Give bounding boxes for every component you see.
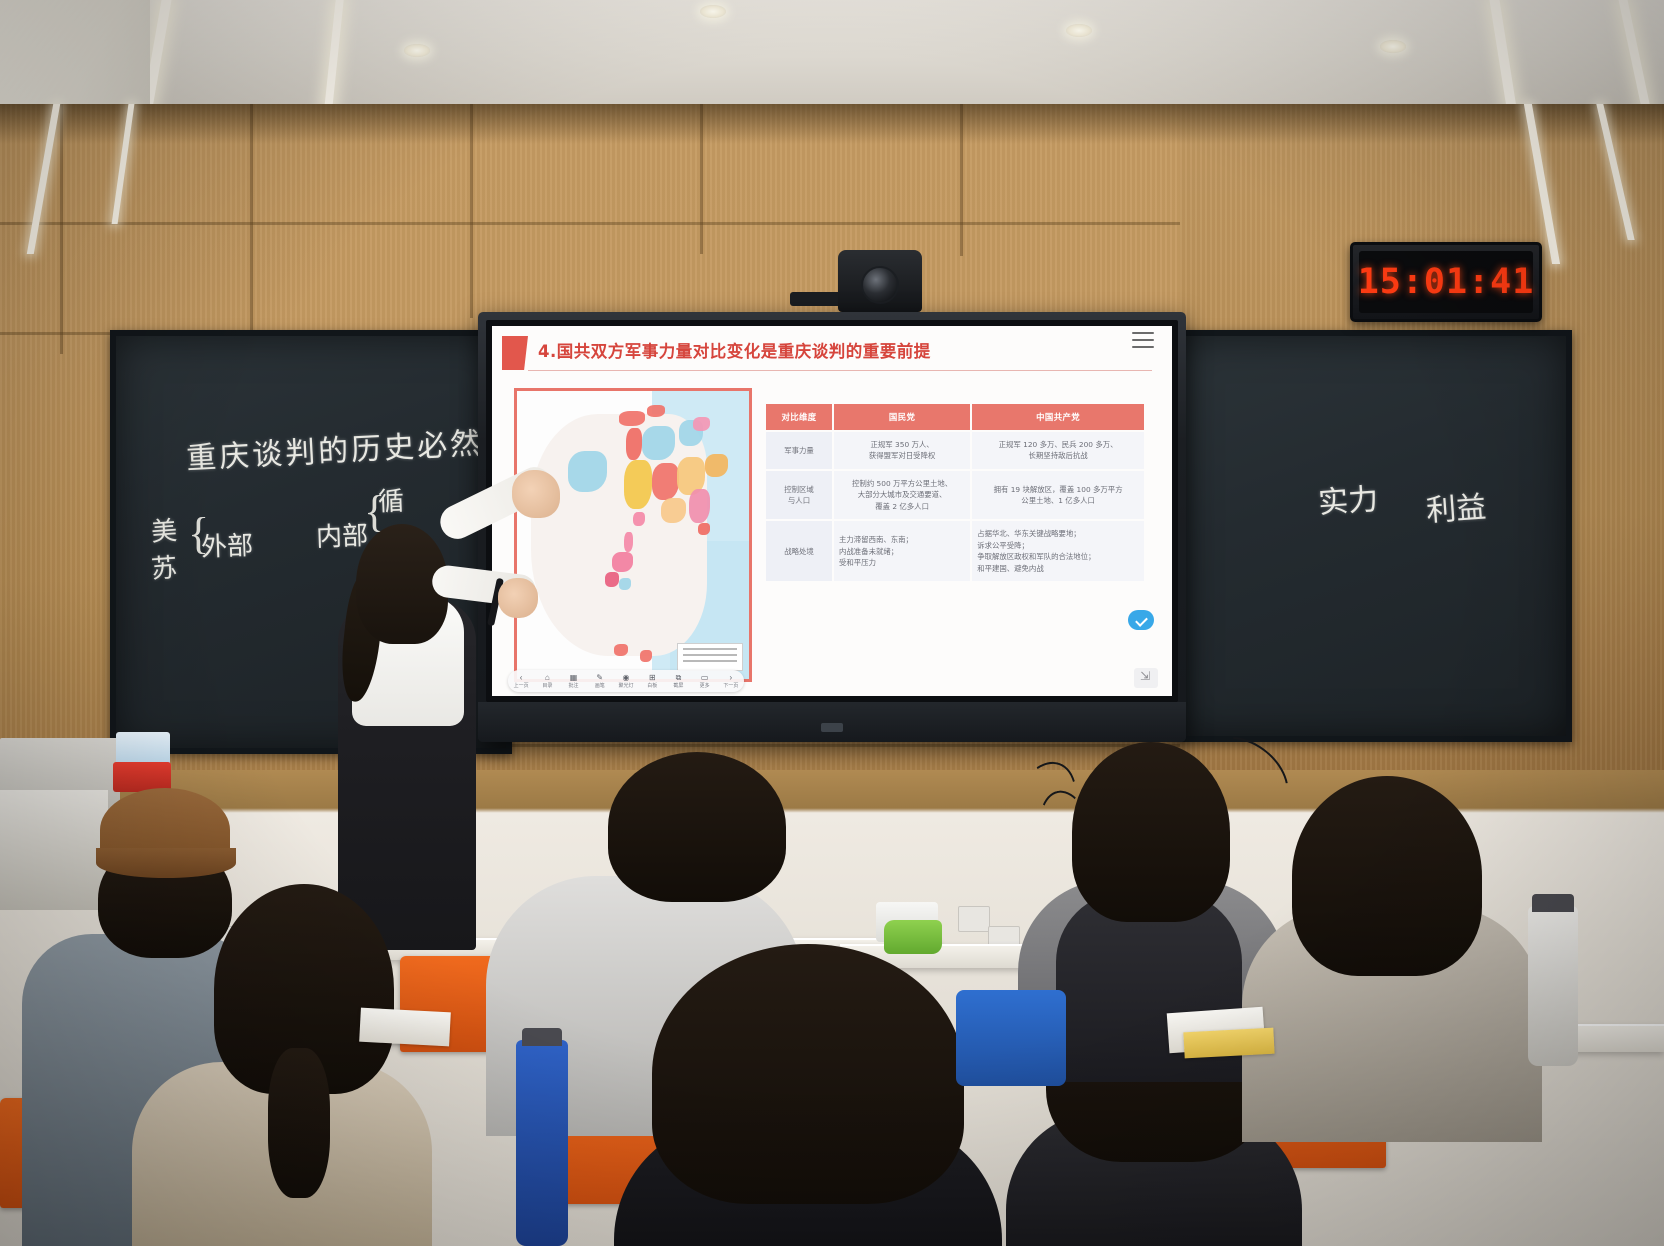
panel-chin xyxy=(478,702,1186,742)
spotlight-icon: ◉ xyxy=(613,673,639,683)
cell-dimension: 战略处境 xyxy=(765,520,833,582)
cell-kmt: 正规军 350 万人、 获得盟军对日受降权 xyxy=(833,431,971,470)
table-row: 战略处境 主力滞留西南、东南； 内战准备未就绪； 受和平压力 占据华北、华东关键… xyxy=(765,520,1145,582)
front-cabinet xyxy=(0,790,108,910)
table-header-row: 对比维度 国民党 中国共产党 xyxy=(765,403,1145,431)
toolbar-annotate[interactable]: ▦批注 xyxy=(560,673,586,689)
toolbar-more[interactable]: ▭更多 xyxy=(692,673,718,689)
pointing-hand xyxy=(512,470,560,518)
cell-kmt: 控制约 500 万平方公里土地、 大部分大城市及交通要道、 覆盖 2 亿多人口 xyxy=(833,470,971,520)
presentation-slide[interactable]: 4.国共双方军事力量对比变化是重庆谈判的重要前提 xyxy=(492,326,1172,696)
cell-dimension: 军事力量 xyxy=(765,431,833,470)
map-legend xyxy=(677,643,743,671)
more-icon: ▭ xyxy=(692,673,718,683)
china-liberated-areas-map[interactable] xyxy=(514,388,752,682)
chalk-xun: 循 xyxy=(377,481,404,519)
panel-brand-logo xyxy=(821,723,843,732)
toolbar-next-page[interactable]: ›下一页 xyxy=(718,673,744,689)
wall-socket xyxy=(958,906,990,932)
thermos-cap xyxy=(1532,894,1574,912)
table-row: 军事力量 正规军 350 万人、 获得盟军对日受降权 正规军 120 多万、民兵… xyxy=(765,431,1145,470)
notebook xyxy=(1183,1028,1274,1059)
chalk-external: 外部 xyxy=(200,525,253,564)
chalk-su: 苏 xyxy=(150,547,179,586)
green-pouch xyxy=(884,920,942,954)
chalk-meiu: 美 xyxy=(150,510,179,549)
slide-title-bar: 4.国共双方军事力量对比变化是重庆谈判的重要前提 xyxy=(492,336,1172,370)
chalk-interest: 利益 xyxy=(1425,482,1488,530)
comparison-table: 对比维度 国民党 中国共产党 军事力量 正规军 350 万人、 获得盟军对日受降… xyxy=(764,402,1146,583)
prev-icon: ‹ xyxy=(508,673,534,683)
toolbar-prev-page[interactable]: ‹上一页 xyxy=(508,673,534,689)
clock-time: 15:01:41 xyxy=(1358,262,1535,302)
slide-toolbar[interactable]: ‹上一页 ⌂目录 ▦批注 ✎画笔 ◉聚光灯 ⊞白板 ⧉截屏 ▭更多 ›下一页 xyxy=(508,670,744,692)
toolbar-whiteboard[interactable]: ⊞白板 xyxy=(639,673,665,689)
table-row: 控制区域 与人口 控制约 500 万平方公里土地、 大部分大城市及交通要道、 覆… xyxy=(765,470,1145,520)
th-cpc: 中国共产党 xyxy=(971,403,1145,431)
bottle-cap xyxy=(522,1028,562,1046)
cap-brim xyxy=(96,848,236,878)
screenshot-icon: ⧉ xyxy=(665,673,691,683)
cell-cpc: 占据华北、华东关键战略要地； 诉求公平受降； 争取解放区政权和军队的合法地位； … xyxy=(971,520,1145,582)
cell-dimension: 控制区域 与人口 xyxy=(765,470,833,520)
ptz-camera-icon xyxy=(838,250,922,312)
cell-kmt: 主力滞留西南、东南； 内战准备未就绪； 受和平压力 xyxy=(833,520,971,582)
grid-icon: ▦ xyxy=(560,673,586,683)
interactive-flat-panel[interactable]: 4.国共双方军事力量对比变化是重庆谈判的重要前提 xyxy=(478,312,1186,742)
hamburger-icon[interactable] xyxy=(1132,332,1154,348)
th-kmt: 国民党 xyxy=(833,403,971,431)
expand-icon[interactable] xyxy=(1134,668,1158,688)
title-accent-tab xyxy=(502,336,528,370)
cell-cpc: 拥有 19 块解放区，覆盖 100 多万平方 公里土地、1 亿多人口 xyxy=(971,470,1145,520)
slide-title: 4.国共双方军事力量对比变化是重庆谈判的重要前提 xyxy=(538,338,931,362)
next-icon: › xyxy=(718,673,744,683)
toolbar-contents[interactable]: ⌂目录 xyxy=(534,673,560,689)
chalk-title: 重庆谈判的历史必然 xyxy=(185,418,484,477)
backpack xyxy=(956,990,1066,1086)
toolbar-screenshot[interactable]: ⧉截屏 xyxy=(665,673,691,689)
check-badge-icon[interactable] xyxy=(1128,610,1154,630)
th-dimension: 对比维度 xyxy=(765,403,833,431)
ceiling xyxy=(0,0,1664,108)
blackboard-right: 实力 利益 xyxy=(1172,330,1572,742)
toolbar-spotlight[interactable]: ◉聚光灯 xyxy=(613,673,639,689)
thermos-bottle xyxy=(1528,906,1578,1066)
classroom-scene: 重庆谈判的历史必然 美 苏 { 外部 内部 { 循 实力 利益 4.国共双方军事… xyxy=(0,0,1664,1246)
whiteboard-icon: ⊞ xyxy=(639,673,665,683)
paper-sheet xyxy=(359,1008,451,1047)
chalk-internal: 内部 xyxy=(315,515,368,554)
home-icon: ⌂ xyxy=(534,673,560,683)
title-divider xyxy=(528,370,1152,371)
water-bottle xyxy=(516,1040,568,1246)
chalk-strength: 实力 xyxy=(1317,474,1380,522)
led-clock: 15:01:41 xyxy=(1350,242,1542,322)
cell-cpc: 正规军 120 多万、民兵 200 多万、 长期坚持敌后抗战 xyxy=(971,431,1145,470)
toolbar-pen[interactable]: ✎画笔 xyxy=(587,673,613,689)
pen-icon: ✎ xyxy=(587,673,613,683)
